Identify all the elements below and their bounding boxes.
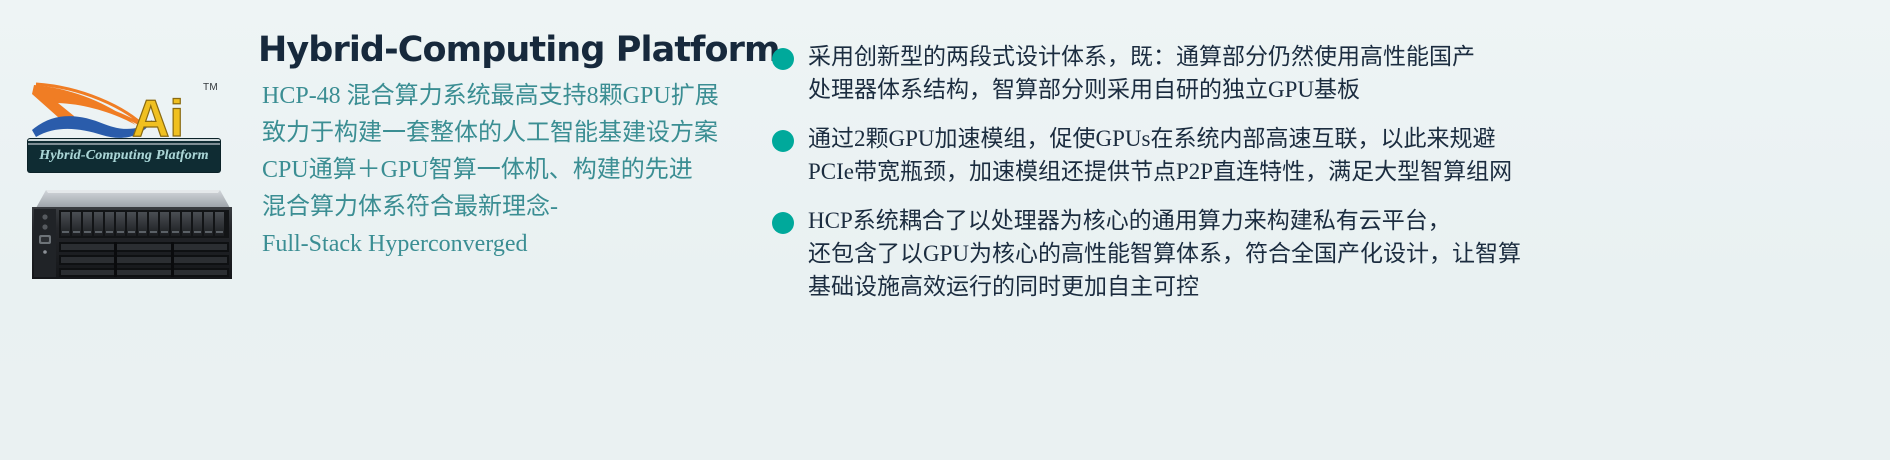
server-product-image [24, 186, 236, 282]
product-panel: Ai TM Hybrid-Computing Platform [0, 0, 250, 460]
banner-rule-second [28, 143, 220, 145]
bullet-item-hcp-private-cloud: HCP系统耦合了以处理器为核心的通用算力来构建私有云平台， 还包含了以GPU为核… [772, 204, 1882, 303]
bullet-item-two-stage-architecture: 采用创新型的两段式设计体系，既：通算部分仍然使用高性能国产 处理器体系结构，智算… [772, 40, 1882, 106]
subtitle-line-1: HCP-48 混合算力系统最高支持8颗GPU扩展 [258, 78, 758, 115]
bullet-dot-icon [772, 212, 794, 234]
subtitle-line-2: 致力于构建一套整体的人工智能基建设方案 [258, 115, 758, 152]
bullet-text-block: HCP系统耦合了以处理器为核心的通用算力来构建私有云平台， 还包含了以GPU为核… [808, 204, 1882, 303]
bullet-2-line-1: 通过2颗GPU加速模组，促使GPUs在系统内部高速互联，以此来规避 [808, 122, 1882, 155]
headline-column: Hybrid-Computing Platform HCP-48 混合算力系统最… [258, 28, 758, 448]
bullet-dot-icon [772, 130, 794, 152]
subtitle-line-5: Full-Stack Hyperconverged [258, 226, 758, 263]
bullet-text-block: 采用创新型的两段式设计体系，既：通算部分仍然使用高性能国产 处理器体系结构，智算… [808, 40, 1882, 106]
logo-swoosh-graphic: Ai TM [28, 78, 220, 144]
subtitle-line-4: 混合算力体系符合最新理念- [258, 189, 758, 226]
bullet-dot-icon [772, 48, 794, 70]
bullet-1-line-2: 处理器体系结构，智算部分则采用自研的独立GPU基板 [808, 73, 1882, 106]
product-logo: Ai TM Hybrid-Computing Platform [28, 78, 220, 174]
bullet-3-line-2: 还包含了以GPU为核心的高性能智算体系，符合全国产化设计，让智算 [808, 237, 1882, 270]
logo-banner: Hybrid-Computing Platform [28, 139, 220, 172]
bullet-1-line-1: 采用创新型的两段式设计体系，既：通算部分仍然使用高性能国产 [808, 40, 1882, 73]
bullet-3-line-1: HCP系统耦合了以处理器为核心的通用算力来构建私有云平台， [808, 204, 1882, 237]
logo-banner-text: Hybrid-Computing Platform [28, 148, 220, 164]
feature-bullet-list: 采用创新型的两段式设计体系，既：通算部分仍然使用高性能国产 处理器体系结构，智算… [772, 40, 1882, 319]
subtitle-block: HCP-48 混合算力系统最高支持8颗GPU扩展 致力于构建一套整体的人工智能基… [258, 78, 758, 263]
bullet-item-gpu-acceleration-module: 通过2颗GPU加速模组，促使GPUs在系统内部高速互联，以此来规避 PCIe带宽… [772, 122, 1882, 188]
bullet-text-block: 通过2颗GPU加速模组，促使GPUs在系统内部高速互联，以此来规避 PCIe带宽… [808, 122, 1882, 188]
slide-canvas: Ai TM Hybrid-Computing Platform [0, 0, 1890, 460]
bullet-3-line-3: 基础设施高效运行的同时更加自主可控 [808, 270, 1882, 303]
trademark-symbol: TM [203, 82, 218, 93]
svg-text:Ai: Ai [132, 90, 184, 144]
subtitle-line-3: CPU通算＋GPU智算一体机、构建的先进 [258, 152, 758, 189]
banner-rule-top [28, 139, 220, 141]
page-title: Hybrid-Computing Platform [258, 28, 750, 72]
bullet-2-line-2: PCIe带宽瓶颈，加速模组还提供节点P2P直连特性，满足大型智算组网 [808, 155, 1882, 188]
